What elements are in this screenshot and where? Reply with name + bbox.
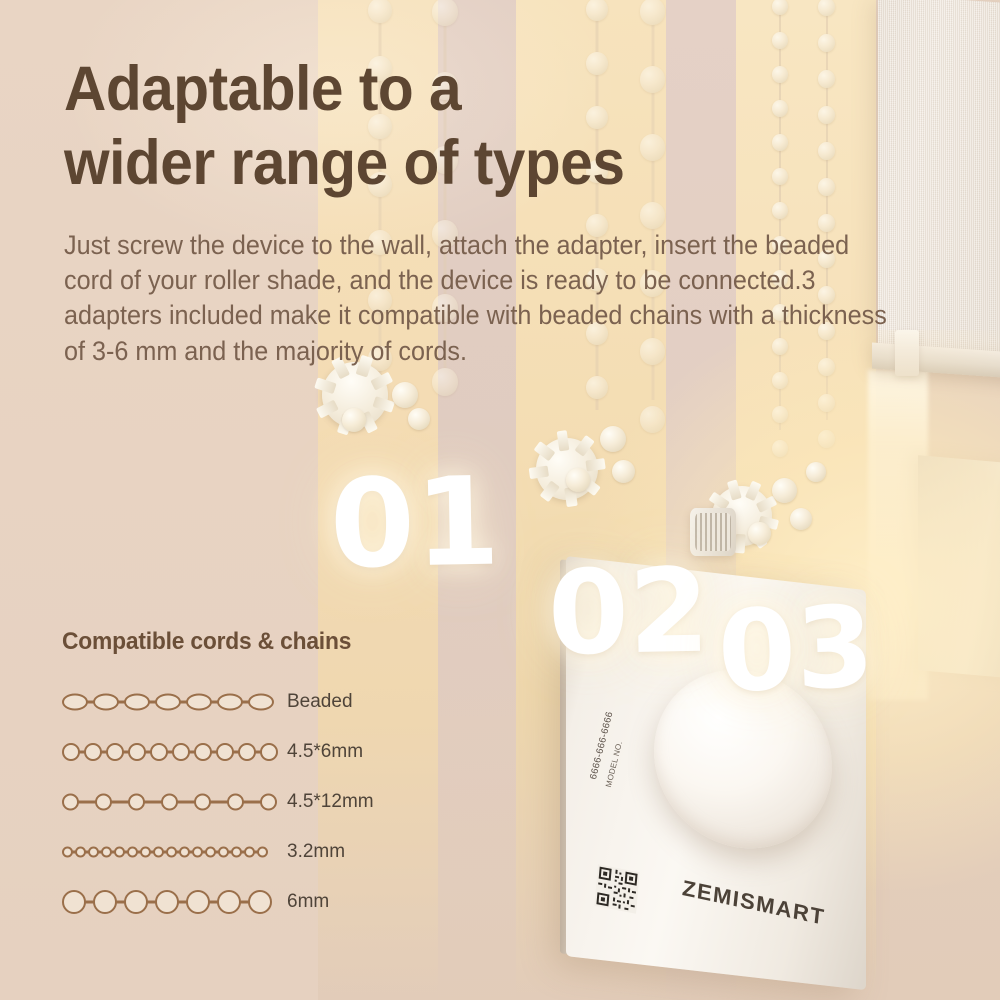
cord-bead — [62, 794, 79, 811]
cord-bead — [194, 794, 211, 811]
cord-bead — [217, 694, 243, 711]
cord-bead — [260, 794, 277, 811]
step-number-01: 01 — [329, 451, 501, 596]
adapter-bead — [342, 408, 366, 432]
chain-bead — [640, 0, 665, 25]
chain-bead — [818, 70, 835, 88]
cord-link — [177, 801, 195, 804]
cord-bead — [93, 890, 117, 914]
cord-bead — [62, 694, 88, 711]
cord-bead — [124, 694, 150, 711]
cord-diagram-circle-tiny — [62, 835, 277, 869]
chain-bead — [772, 134, 788, 151]
product-banner: 6666-666-6666 MODEL NO. ZEMISMART 01 02 … — [0, 0, 1000, 1000]
cord-bead — [155, 694, 181, 711]
cord-diagram-circle-big — [62, 885, 277, 919]
cord-bead — [161, 794, 178, 811]
chain-bead — [432, 368, 458, 396]
cord-bead — [257, 847, 268, 858]
cord-label: 4.5*12mm — [287, 791, 374, 813]
adapter-bead — [408, 408, 430, 430]
cord-label: 3.2mm — [287, 841, 345, 863]
cord-diagram-circle-tight — [62, 735, 277, 769]
adapter-gear-02 — [532, 434, 602, 504]
cord-row: Beaded — [62, 682, 442, 722]
chain-bead — [586, 0, 608, 21]
chain-bead — [818, 142, 835, 160]
adapter-tooth — [528, 466, 548, 479]
cord-link — [78, 801, 96, 804]
chain-bead — [772, 168, 788, 185]
cord-bead — [186, 890, 210, 914]
cord-bead — [216, 743, 234, 761]
cord-bead — [95, 794, 112, 811]
description-text: Just screw the device to the wall, attac… — [64, 228, 900, 369]
cord-bead — [238, 743, 256, 761]
chain-bead — [772, 0, 788, 15]
cord-bead — [84, 743, 102, 761]
adapter-bead — [772, 478, 797, 503]
adapter-tooth — [734, 534, 745, 553]
cord-bead — [186, 694, 212, 711]
adapter-tooth — [533, 442, 555, 462]
chain-bead — [772, 32, 788, 49]
adapter-bead — [612, 460, 635, 483]
headline-line-1: Adaptable to a — [64, 52, 715, 126]
chain-bead — [772, 100, 788, 117]
cord-link — [243, 801, 261, 804]
adapter-bead — [806, 462, 826, 482]
cord-row-list: Beaded4.5*6mm4.5*12mm3.2mm6mm — [62, 682, 442, 922]
cord-label: 4.5*6mm — [287, 741, 363, 763]
adapter-bead — [392, 382, 418, 408]
chain-bead — [818, 34, 835, 52]
chain-bead — [818, 106, 835, 124]
adapter-bead — [566, 468, 590, 492]
cord-bead — [227, 794, 244, 811]
cord-row: 3.2mm — [62, 832, 442, 872]
cord-bead — [128, 743, 146, 761]
adapter-bead — [790, 508, 812, 530]
chain-bead — [818, 0, 835, 16]
cord-bead — [248, 890, 272, 914]
chain-bead — [640, 202, 665, 229]
cord-diagram-oval-short — [62, 685, 277, 719]
cord-row: 4.5*12mm — [62, 782, 442, 822]
cord-bead — [248, 694, 274, 711]
cord-label: 6mm — [287, 891, 329, 913]
cord-row: 4.5*6mm — [62, 732, 442, 772]
cord-bead — [128, 794, 145, 811]
compatible-cords-panel: Compatible cords & chains Beaded4.5*6mm4… — [62, 628, 442, 932]
cord-row: 6mm — [62, 882, 442, 922]
panel-title: Compatible cords & chains — [62, 628, 423, 656]
chain-bead — [432, 0, 458, 26]
cord-diagram-circle-long — [62, 785, 277, 819]
chain-bead — [818, 178, 835, 196]
cord-bead — [62, 743, 80, 761]
step-number-03: 03 — [716, 582, 876, 717]
cord-bead — [150, 743, 168, 761]
qr-code-icon — [594, 862, 640, 915]
cord-bead — [124, 890, 148, 914]
adapter-bead — [748, 522, 771, 545]
cord-bead — [106, 743, 124, 761]
cord-link — [144, 801, 162, 804]
cord-bead — [260, 743, 278, 761]
cord-link — [111, 801, 129, 804]
chain-bead — [772, 202, 788, 219]
cord-bead — [93, 694, 119, 711]
chain-bead — [772, 66, 788, 83]
headline-line-2: wider range of types — [64, 126, 715, 200]
adapter-bead — [600, 426, 626, 452]
cord-bead — [194, 743, 212, 761]
cord-label: Beaded — [287, 691, 353, 713]
cord-bead — [217, 890, 241, 914]
chain-bead — [368, 0, 392, 23]
cord-bead — [172, 743, 190, 761]
cord-bead — [155, 890, 179, 914]
cord-bead — [62, 890, 86, 914]
page-title: Adaptable to a wider range of types — [64, 52, 715, 201]
cord-link — [210, 801, 228, 804]
step-number-02: 02 — [547, 544, 711, 682]
